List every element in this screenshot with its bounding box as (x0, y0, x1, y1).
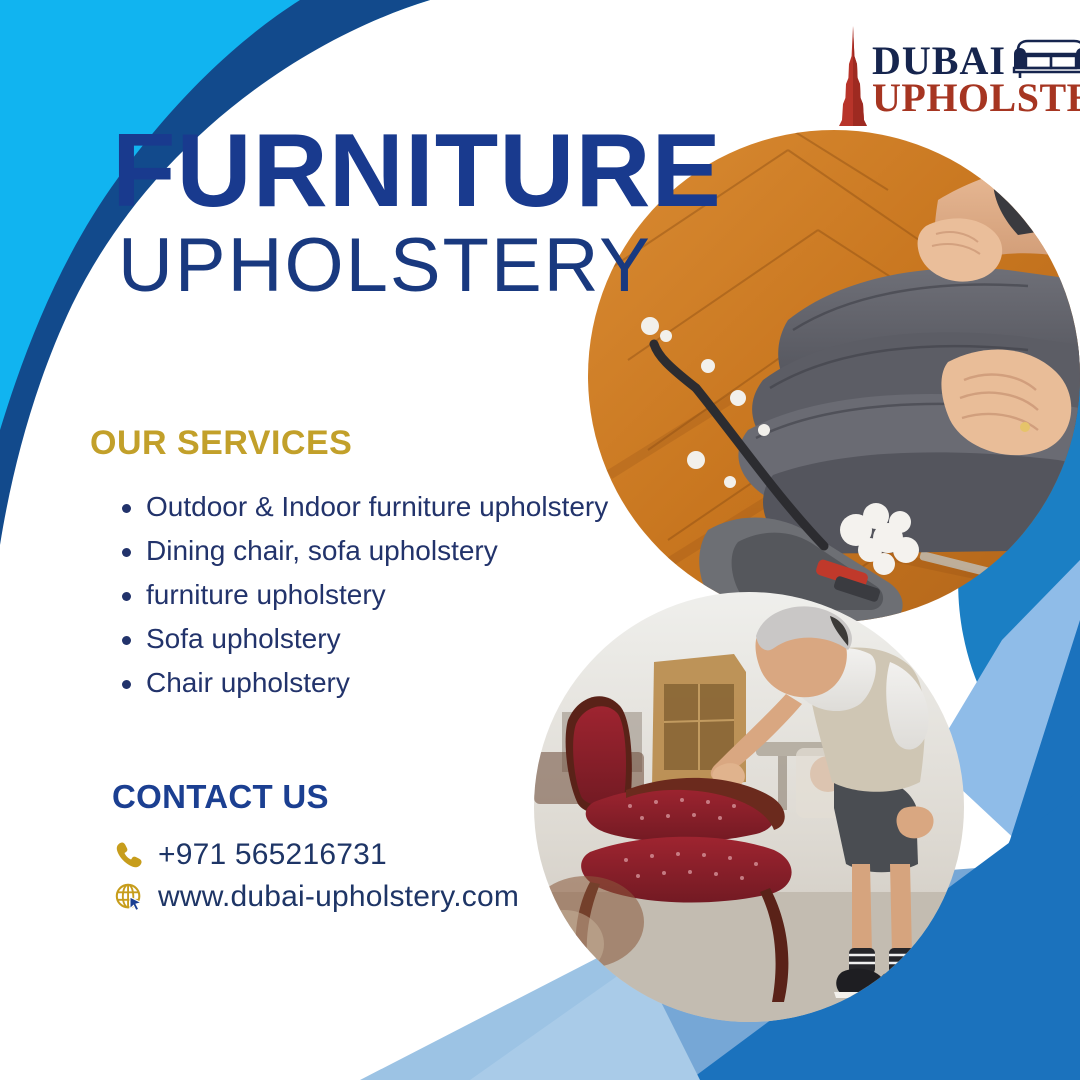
list-item: Outdoor & Indoor furniture upholstery (120, 487, 650, 528)
headline-line-2: UPHOLSTERY (118, 228, 722, 304)
phone-icon-glyph (114, 840, 144, 870)
flyer-canvas: DUBAI UPHOLSTERY FURNITURE UPHOLSTERY OU… (0, 0, 1080, 1080)
phone-number: +971 565216731 (158, 838, 387, 872)
globe-cursor-icon-glyph (114, 882, 144, 912)
sofa-icon (1012, 34, 1080, 80)
contact-section: CONTACT US +971 565216731 www.dubai-upho… (112, 778, 519, 922)
brand-logo[interactable]: DUBAI UPHOLSTERY (836, 22, 1068, 130)
logo-wordmark: DUBAI UPHOLSTERY (872, 34, 1080, 117)
list-item: Dining chair, sofa upholstery (120, 531, 650, 572)
contact-phone-row[interactable]: +971 565216731 (112, 838, 519, 872)
list-item: furniture upholstery (120, 575, 650, 616)
list-item: Chair upholstery (120, 663, 650, 704)
list-item: Sofa upholstery (120, 619, 650, 660)
burj-khalifa-icon (836, 26, 870, 126)
headline-line-1: FURNITURE (112, 122, 722, 222)
contact-website-row[interactable]: www.dubai-upholstery.com (112, 880, 519, 914)
website-url: www.dubai-upholstery.com (158, 880, 519, 914)
logo-top-row: DUBAI (872, 34, 1080, 80)
phone-icon (112, 838, 146, 872)
services-list: Outdoor & Indoor furniture upholstery Di… (90, 487, 650, 703)
logo-upholstery-text: UPHOLSTERY (872, 78, 1080, 117)
globe-cursor-icon (112, 880, 146, 914)
services-heading: OUR SERVICES (90, 424, 650, 463)
contact-heading: CONTACT US (112, 778, 519, 816)
page-title: FURNITURE UPHOLSTERY (112, 122, 722, 304)
services-section: OUR SERVICES Outdoor & Indoor furniture … (90, 424, 650, 706)
